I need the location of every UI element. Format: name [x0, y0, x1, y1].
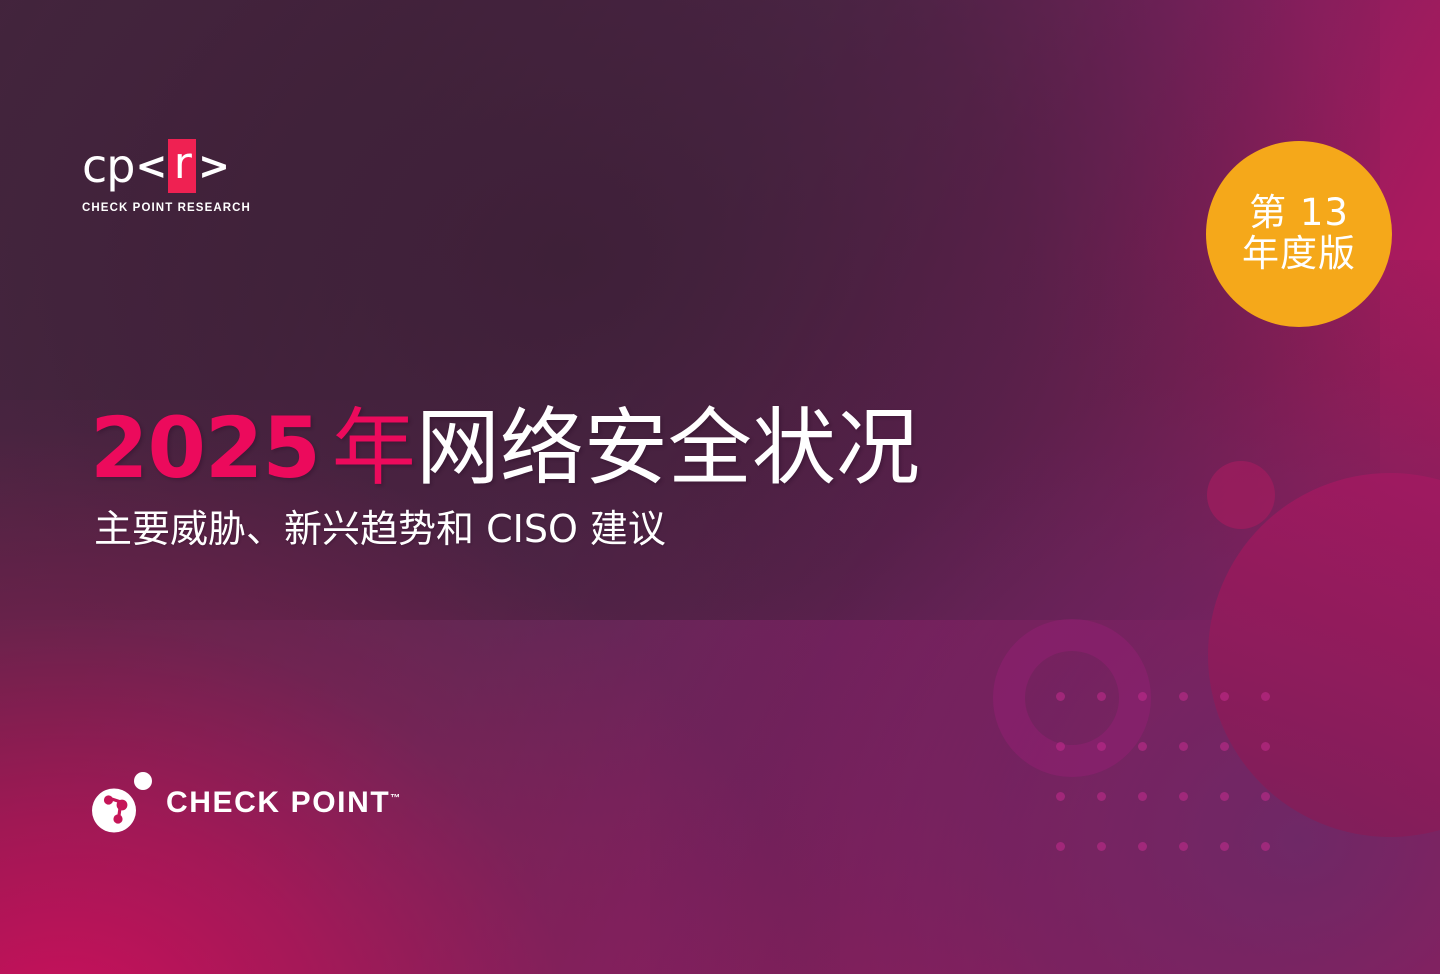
decorative-dot: [1056, 792, 1065, 801]
decorative-dot: [1056, 842, 1065, 851]
page-subtitle: 主要威胁、新兴趋势和 CISO 建议: [94, 507, 1090, 553]
check-point-wordmark: CHECK POINT™: [166, 786, 400, 820]
decorative-dot: [1097, 792, 1106, 801]
title-main: 网络安全状况: [416, 399, 920, 497]
trademark-icon: ™: [390, 793, 400, 804]
decorative-circle-small: [1207, 461, 1275, 529]
decorative-dot: [1220, 742, 1229, 751]
cpr-logo: cp<r> CHECK POINT RESEARCH: [82, 138, 230, 214]
decorative-dot: [1179, 692, 1188, 701]
decorative-dot: [1097, 742, 1106, 751]
decorative-dot: [1220, 692, 1229, 701]
decorative-dot: [1261, 792, 1270, 801]
check-point-mark-icon: [88, 772, 154, 834]
check-point-logo: CHECK POINT™: [88, 772, 400, 834]
cpr-tagline: CHECK POINT RESEARCH: [82, 202, 230, 214]
decorative-dot: [1056, 742, 1065, 751]
decorative-dot: [1261, 842, 1270, 851]
cpr-cp-text: cp: [82, 143, 135, 189]
cpr-wordmark: cp<r>: [82, 138, 230, 194]
decorative-dot: [1138, 792, 1147, 801]
decorative-dot: [1179, 842, 1188, 851]
decorative-dot: [1261, 742, 1270, 751]
headline-block: 2025年网络安全状况 主要威胁、新兴趋势和 CISO 建议: [90, 404, 1090, 553]
decorative-dot: [1056, 692, 1065, 701]
decorative-dot: [1261, 692, 1270, 701]
cpr-r-badge: r: [168, 139, 196, 193]
edition-badge-line1: 第 13: [1249, 193, 1349, 233]
page-title: 2025年网络安全状况: [90, 404, 1090, 493]
decorative-dot: [1138, 692, 1147, 701]
cpr-angle-left-icon: <: [136, 147, 167, 185]
title-year: 2025: [90, 399, 320, 497]
decorative-dot: [1097, 842, 1106, 851]
decorative-dot: [1220, 792, 1229, 801]
edition-badge: 第 13 年度版: [1206, 141, 1392, 327]
cpr-angle-right-icon: >: [198, 147, 229, 185]
edition-badge-line2: 年度版: [1242, 233, 1356, 274]
decorative-dot: [1220, 842, 1229, 851]
report-cover: cp<r> CHECK POINT RESEARCH 第 13 年度版 2025…: [0, 0, 1440, 974]
decorative-dot-grid: [1056, 692, 1302, 892]
title-year-suffix: 年: [332, 399, 416, 497]
decorative-dot: [1179, 792, 1188, 801]
decorative-dot: [1138, 842, 1147, 851]
decorative-dot: [1138, 742, 1147, 751]
decorative-dot: [1097, 692, 1106, 701]
decorative-dot: [1179, 742, 1188, 751]
check-point-wordmark-text: CHECK POINT: [166, 786, 390, 819]
